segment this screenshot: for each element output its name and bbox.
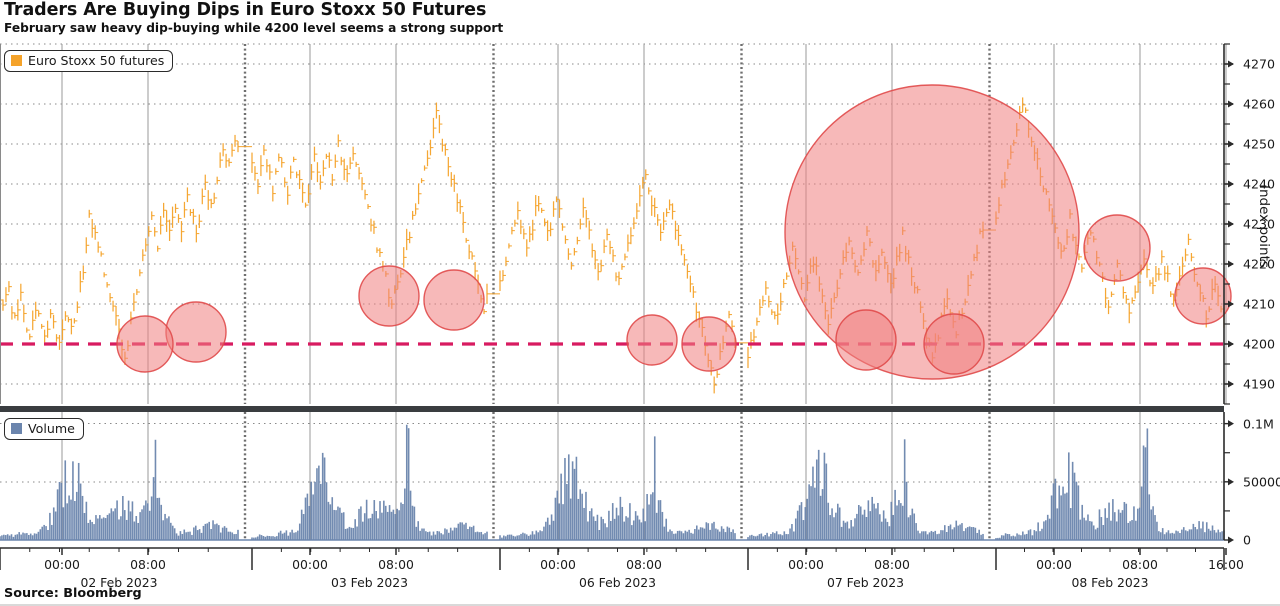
chart-canvas xyxy=(0,0,1280,606)
y-tick-label: 4230 xyxy=(1243,217,1275,232)
x-tick-time: 16:00 xyxy=(1208,557,1244,572)
legend-swatch-volume xyxy=(11,423,22,434)
y-tick-label: 4270 xyxy=(1243,57,1275,72)
x-tick-time: 00:00 xyxy=(540,557,576,572)
legend-volume[interactable]: Volume xyxy=(4,418,84,440)
volume-tick-label: 50000 xyxy=(1243,474,1280,489)
x-tick-time: 08:00 xyxy=(874,557,910,572)
x-tick-time: 00:00 xyxy=(292,557,328,572)
x-tick-day: 06 Feb 2023 xyxy=(579,575,656,590)
x-tick-day: 07 Feb 2023 xyxy=(827,575,904,590)
x-tick-time: 00:00 xyxy=(44,557,80,572)
legend-label-price: Euro Stoxx 50 futures xyxy=(28,53,164,68)
x-tick-time: 08:00 xyxy=(1122,557,1158,572)
y-tick-label: 4200 xyxy=(1243,337,1275,352)
y-tick-label: 4210 xyxy=(1243,297,1275,312)
panel-separator xyxy=(0,406,1224,412)
x-tick-time: 08:00 xyxy=(626,557,662,572)
x-tick-time: 08:00 xyxy=(378,557,414,572)
volume-tick-label: 0.1M xyxy=(1243,416,1274,431)
x-tick-day: 02 Feb 2023 xyxy=(80,575,157,590)
y-tick-label: 4240 xyxy=(1243,177,1275,192)
y-tick-label: 4260 xyxy=(1243,97,1275,112)
x-tick-day: 03 Feb 2023 xyxy=(331,575,408,590)
volume-tick-label: 0 xyxy=(1243,533,1251,548)
y-tick-label: 4250 xyxy=(1243,137,1275,152)
y-tick-label: 4220 xyxy=(1243,257,1275,272)
y-tick-label: 4190 xyxy=(1243,377,1275,392)
legend-price[interactable]: Euro Stoxx 50 futures xyxy=(4,50,173,72)
x-tick-time: 00:00 xyxy=(788,557,824,572)
x-tick-day: 08 Feb 2023 xyxy=(1071,575,1148,590)
x-tick-time: 00:00 xyxy=(1036,557,1072,572)
legend-label-volume: Volume xyxy=(28,421,75,436)
x-tick-time: 08:00 xyxy=(130,557,166,572)
chart-root: Traders Are Buying Dips in Euro Stoxx 50… xyxy=(0,0,1280,606)
legend-swatch-price xyxy=(11,55,22,66)
